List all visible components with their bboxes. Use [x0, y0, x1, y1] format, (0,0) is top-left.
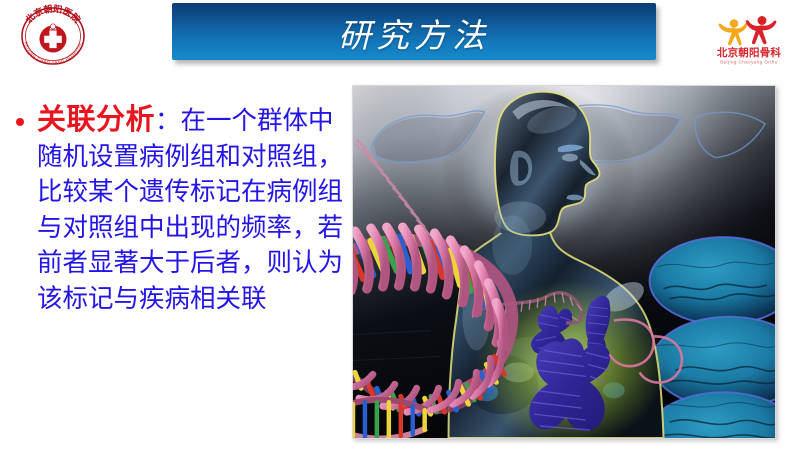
- beijing-chaoyang-hospital-logo: 北京朝阳医院 BEIJING CHAO-YANG HOSPITAL: [11, 4, 95, 68]
- content-text-block: 关联分析：在一个群体中随机设置病例组和对照组，比较某个遗传标记在病例组与对照组中…: [8, 103, 348, 317]
- presentation-slide: 北京朝阳医院 BEIJING CHAO-YANG HOSPITAL 研究方法: [0, 0, 800, 450]
- bullet-dot-icon: [16, 118, 24, 126]
- svg-text:Beijing Chaoyang Ortho: Beijing Chaoyang Ortho: [720, 60, 778, 65]
- keyword-association-analysis: 关联分析: [37, 104, 155, 136]
- beijing-chaoyang-ortho-logo: 北京朝阳骨科 Beijing Chaoyang Ortho: [707, 6, 791, 68]
- slide-title-banner: 研究方法: [172, 3, 656, 60]
- page-title: 研究方法: [338, 9, 490, 57]
- list-item: 关联分析：在一个群体中随机设置病例组和对照组，比较某个遗传标记在病例组与对照组中…: [8, 103, 348, 317]
- paragraph-text: 关联分析：在一个群体中随机设置病例组和对照组，比较某个遗传标记在病例组与对照组中…: [37, 103, 348, 317]
- genetics-illustration-image: [352, 85, 776, 439]
- paragraph-body: ：在一个群体中随机设置病例组和对照组，比较某个遗传标记在病例组与对照组中出现的频…: [37, 107, 343, 313]
- svg-text:北京朝阳骨科: 北京朝阳骨科: [717, 46, 781, 59]
